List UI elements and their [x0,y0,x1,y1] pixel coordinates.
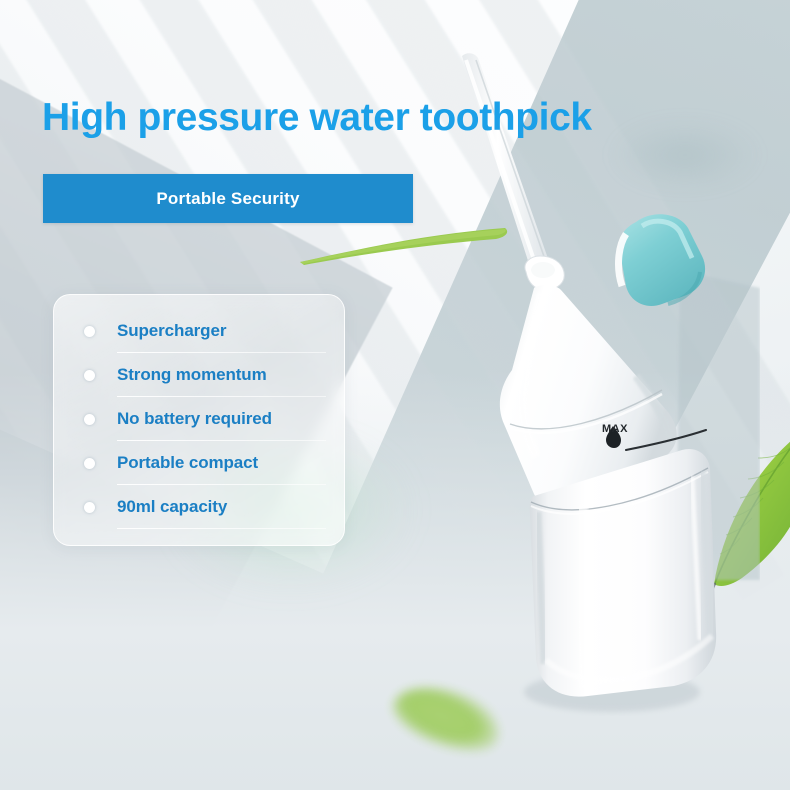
bullet-icon [84,370,95,381]
feature-label: Portable compact [117,453,258,473]
feature-item-no-battery-required: No battery required [84,397,322,441]
feature-item-90ml-capacity: 90ml capacity [84,485,322,529]
badge-label: Portable Security [156,189,299,209]
feature-item-strong-momentum: Strong momentum [84,353,322,397]
product-banner: MAX High pressure water toothpick Portab… [0,0,790,790]
feature-item-portable-compact: Portable compact [84,441,322,485]
feature-item-supercharger: Supercharger [84,309,322,353]
portable-security-badge: Portable Security [43,174,413,223]
feature-divider [117,528,326,530]
max-marking: MAX [596,408,706,442]
bullet-icon [84,458,95,469]
feature-label: 90ml capacity [117,497,227,517]
feature-label: Supercharger [117,321,226,341]
feature-label: Strong momentum [117,365,267,385]
feature-label: No battery required [117,409,272,429]
page-title: High pressure water toothpick [42,96,592,140]
bullet-icon [84,414,95,425]
bullet-icon [84,502,95,513]
bullet-icon [84,326,95,337]
feature-list-card: Supercharger Strong momentum No battery … [53,294,345,546]
max-label: MAX [602,423,628,435]
